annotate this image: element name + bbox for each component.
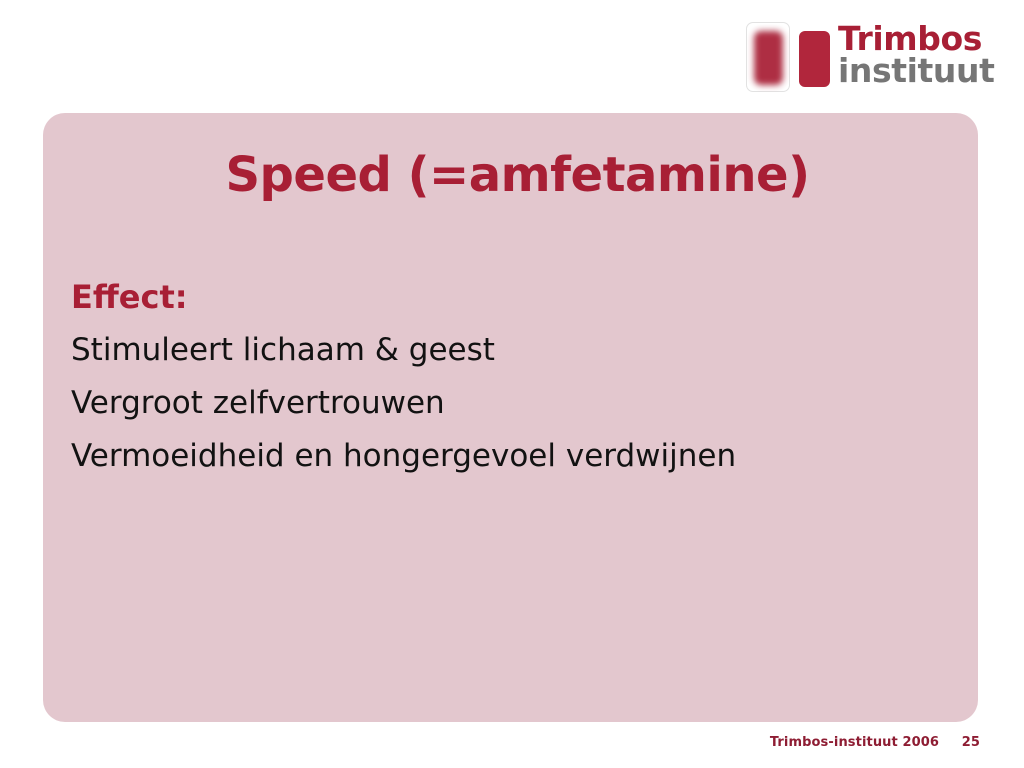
slide-body: Effect: Stimuleert lichaam & geest Vergr… — [71, 271, 951, 483]
logo-mark — [746, 22, 832, 94]
trimbos-instituut-logo: Trimbos instituut — [746, 22, 982, 94]
logo-box-blurred-icon — [754, 31, 783, 85]
logo-wordmark: Trimbos instituut — [838, 22, 994, 88]
footer-page-number: 25 — [962, 735, 980, 750]
logo-box-solid-icon — [799, 31, 830, 87]
footer-credit: Trimbos-instituut 2006 — [770, 735, 939, 750]
effect-item-3: Vermoeidheid en hongergevoel verdwijnen — [71, 430, 951, 483]
effect-item-2: Vergroot zelfvertrouwen — [71, 377, 951, 430]
slide-content-panel: Speed (=amfetamine) Effect: Stimuleert l… — [43, 113, 978, 722]
effect-heading: Effect: — [71, 271, 951, 324]
page-title: Speed (=amfetamine) — [43, 147, 978, 203]
slide-footer: Trimbos-instituut 2006 25 — [0, 735, 1024, 750]
effect-item-1: Stimuleert lichaam & geest — [71, 324, 951, 377]
logo-word-instituut: instituut — [838, 55, 994, 87]
